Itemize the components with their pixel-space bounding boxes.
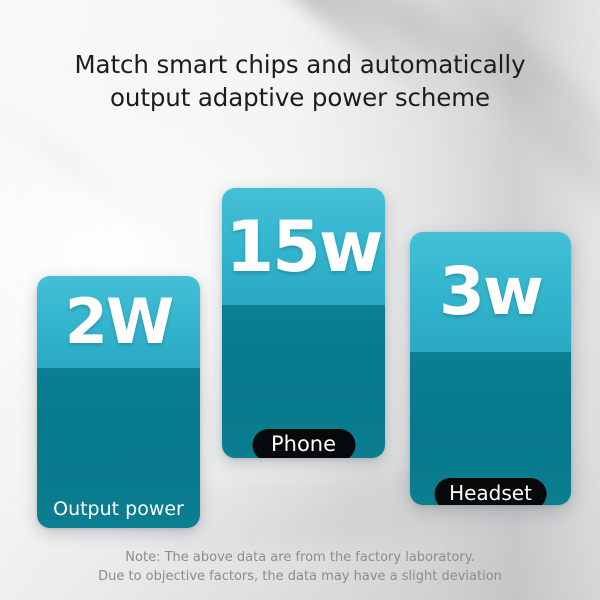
- power-card-bottom-iwatch: iwatch Output power: [37, 368, 200, 528]
- power-card-bottom-phone: Phone Backward compatibility 5W/7.5W/10W: [222, 305, 385, 458]
- page-title-line-2: output adaptive power scheme: [0, 81, 600, 114]
- disclaimer-note-line-2: Due to objective factors, the data may h…: [0, 567, 600, 586]
- power-card-phone: 15w Phone Backward compatibility 5W/7.5W…: [222, 188, 385, 458]
- power-card-headset: 3w Headset Output power: [410, 232, 571, 505]
- power-value-phone: 15w: [225, 212, 381, 282]
- device-badge-headset: Headset: [434, 478, 547, 505]
- page-title-line-1: Match smart chips and automatically: [75, 50, 526, 79]
- page-title: Match smart chips and automatically outp…: [0, 48, 600, 114]
- power-card-top-phone: 15w: [222, 188, 385, 305]
- power-card-top-headset: 3w: [410, 232, 571, 352]
- disclaimer-note-line-1: Note: The above data are from the factor…: [0, 548, 600, 567]
- device-badge-phone: Phone: [252, 429, 355, 458]
- power-card-bottom-headset: Headset Output power: [410, 352, 571, 505]
- power-value-headset: 3w: [439, 259, 542, 325]
- power-card-iwatch: 2W iwatch Output power: [37, 276, 200, 528]
- disclaimer-note: Note: The above data are from the factor…: [0, 548, 600, 586]
- power-caption-iwatch: Output power: [37, 498, 200, 520]
- power-value-iwatch: 2W: [65, 291, 173, 353]
- power-card-top-iwatch: 2W: [37, 276, 200, 368]
